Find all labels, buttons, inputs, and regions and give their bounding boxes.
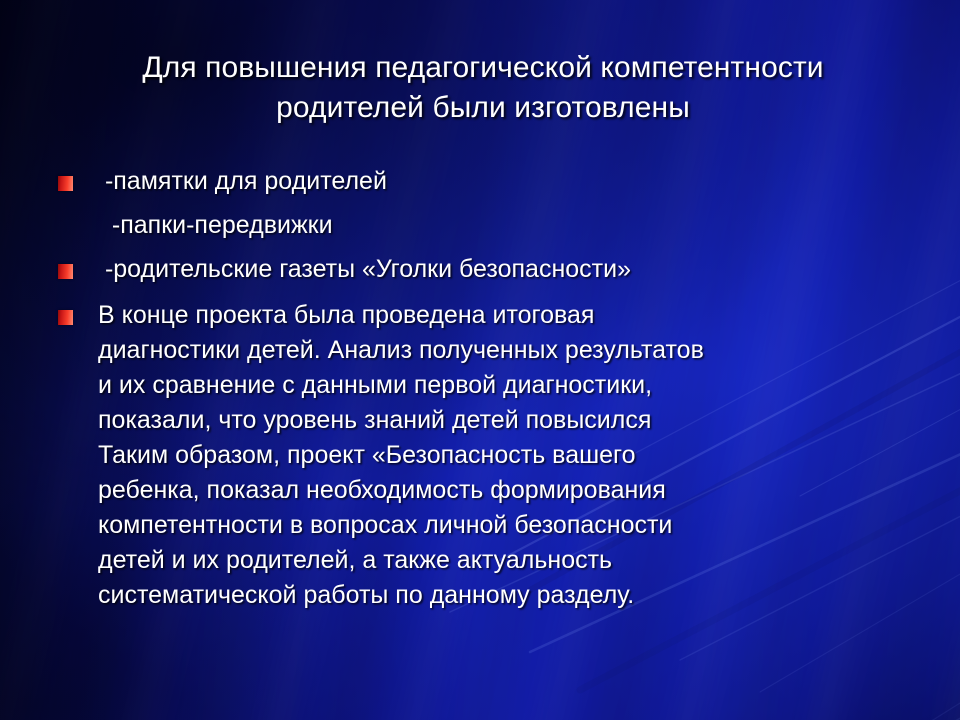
- bullet-item-text: -папки-передвижки: [98, 208, 918, 242]
- red-square-bullet-icon: [58, 310, 73, 325]
- bullet-cell: [52, 164, 98, 194]
- bullet-list-item: -родительские газеты «Уголки безопасност…: [52, 252, 918, 286]
- slide-body: -памятки для родителей -папки-передвижки…: [52, 164, 918, 613]
- slide-title: Для повышения педагогической компетентно…: [70, 48, 896, 128]
- bullet-list-item: -памятки для родителей: [52, 164, 918, 198]
- bullet-cell-empty: [52, 208, 98, 238]
- bullet-item-text: -родительские газеты «Уголки безопасност…: [98, 252, 918, 286]
- bullet-item-paragraph-text: В конце проекта была проведена итоговая …: [98, 298, 918, 613]
- bullet-list-item-continuation: -папки-передвижки: [52, 208, 918, 242]
- bullet-list-item-paragraph: В конце проекта была проведена итоговая …: [52, 298, 918, 613]
- red-square-bullet-icon: [58, 264, 73, 279]
- red-square-bullet-icon: [58, 176, 73, 191]
- presentation-slide: Для повышения педагогической компетентно…: [0, 0, 960, 720]
- bullet-cell: [52, 252, 98, 282]
- slide-content: Для повышения педагогической компетентно…: [0, 0, 960, 720]
- bullet-item-text: -памятки для родителей: [98, 164, 918, 198]
- bullet-cell: [52, 298, 98, 328]
